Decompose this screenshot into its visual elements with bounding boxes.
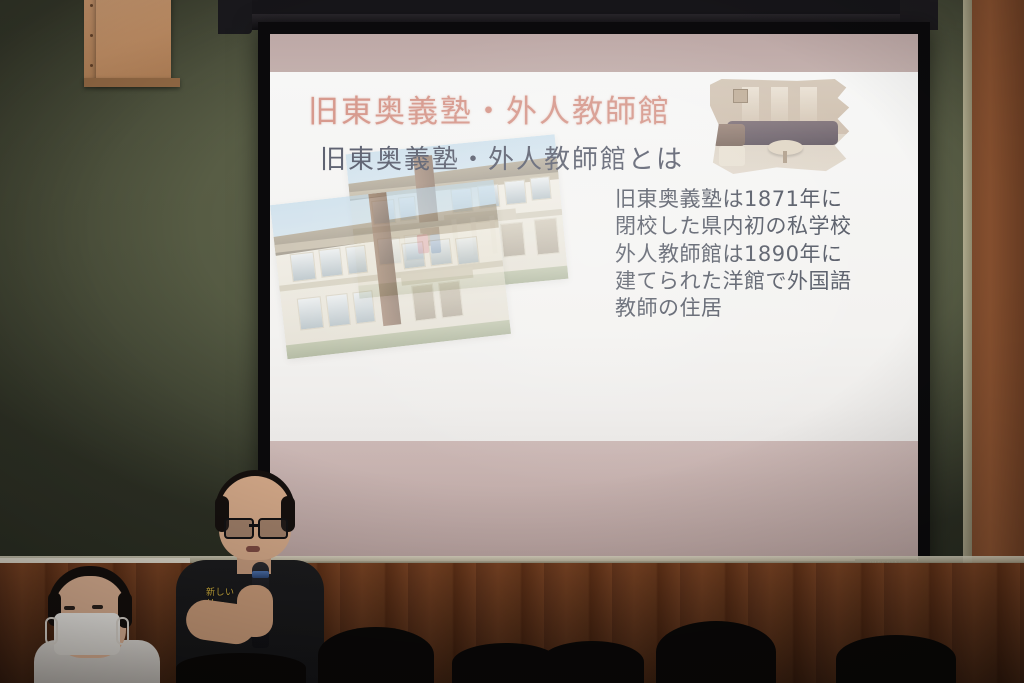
slide-band-bottom [270, 441, 918, 561]
presenter-mouth [246, 546, 260, 552]
audience-head-6 [176, 653, 306, 683]
projection-screen: 旧東奥義塾・外人教師館 旧東奥義塾・外人教師館とは 旧東奥義塾は1871年に 閉… [258, 22, 930, 572]
slide-band-top [270, 34, 918, 72]
wooden-pillar-right [972, 0, 1024, 563]
audience-head-3 [540, 641, 644, 683]
wooden-board [96, 0, 171, 82]
photo-scene: 旧東奥義塾・外人教師館 旧東奥義塾・外人教師館とは 旧東奥義塾は1871年に 閉… [0, 0, 1024, 683]
slide-body-line-2: 閉校した県内初の私学校 [615, 213, 905, 240]
audience-head-4 [656, 621, 776, 683]
face-mask [54, 613, 120, 655]
presentation-slide: 旧東奥義塾・外人教師館 旧東奥義塾・外人教師館とは 旧東奥義塾は1871年に 閉… [270, 34, 918, 561]
slide-body-line-5: 教師の住居 [615, 295, 905, 322]
interior-room-photo [710, 79, 855, 174]
glasses-bridge [249, 524, 259, 527]
slide-body-line-3: 外人教師館は1890年に [615, 241, 905, 268]
microphone-ring [252, 571, 269, 578]
slide-title: 旧東奥義塾・外人教師館 [308, 96, 671, 129]
slide-subtitle: 旧東奥義塾・外人教師館とは [320, 147, 684, 174]
student-eye-right [92, 605, 103, 609]
presenter-hand [237, 585, 273, 637]
screen-bracket-left [218, 0, 252, 34]
audience-head-5 [836, 635, 956, 683]
slide-body-line-1: 旧東奥義塾は1871年に [615, 186, 905, 213]
building-photo-front [270, 180, 511, 359]
screen-surface: 旧東奥義塾・外人教師館 旧東奥義塾・外人教師館とは 旧東奥義塾は1871年に 閉… [270, 34, 918, 561]
slide-body-text: 旧東奥義塾は1871年に 閉校した県内初の私学校 外人教師館は1890年に 建て… [615, 186, 905, 322]
wooden-board-base [84, 78, 180, 87]
audience-head-1 [318, 627, 434, 683]
glasses-lens-left [224, 518, 254, 539]
student-eye-left [64, 606, 75, 610]
glasses-lens-right [258, 518, 288, 539]
slide-body-line-4: 建てられた洋館で外国語 [615, 268, 905, 295]
